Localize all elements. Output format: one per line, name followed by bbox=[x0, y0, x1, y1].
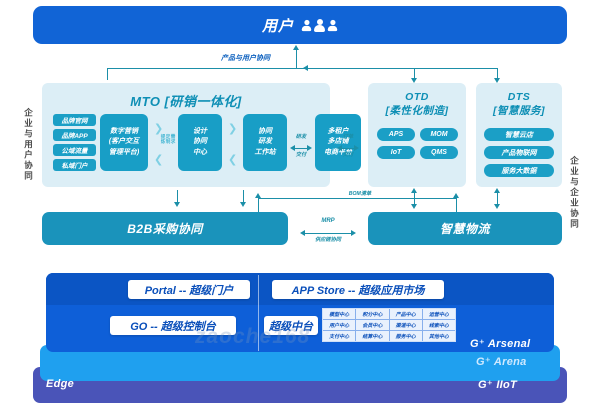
connector-label-delivery: 交付 bbox=[289, 151, 313, 158]
mto-channel-0[interactable]: 品牌官网 bbox=[53, 114, 96, 126]
arrow-up-user bbox=[293, 45, 299, 50]
mto-title: MTO [研销一体化] bbox=[42, 83, 330, 110]
center-cell[interactable]: 支付中心 bbox=[323, 331, 355, 341]
bar-smart-logistics[interactable]: 智慧物流 bbox=[368, 212, 562, 245]
arrow-down-dts-bottom bbox=[494, 204, 500, 209]
dts-title: DTS [智慧服务] bbox=[476, 83, 562, 118]
dts-title-line1: DTS bbox=[476, 90, 562, 104]
center-cell[interactable]: 产品中心 bbox=[390, 309, 422, 319]
portal-pill[interactable]: Portal -- 超级门户 bbox=[128, 280, 250, 299]
box-line: 管理平台) bbox=[109, 148, 139, 159]
flow-line-up-mid bbox=[296, 50, 297, 68]
arrow-up-bom-right bbox=[453, 193, 459, 198]
box-line: 中心 bbox=[193, 148, 207, 159]
otd-title: OTD [柔性化制造] bbox=[368, 83, 466, 118]
flow-label-bom: BOM清单 bbox=[330, 190, 390, 197]
mto-box-rd-workstation[interactable]: 协同 研发 工作站 bbox=[243, 114, 287, 171]
user-banner: 用户 bbox=[33, 6, 567, 44]
otd-module-iot[interactable]: IoT bbox=[377, 146, 415, 159]
box-line: 数字营销 bbox=[110, 127, 138, 138]
otd-title-line1: OTD bbox=[368, 90, 466, 104]
flow-label-supply-chain: 供应链协同 bbox=[298, 236, 358, 243]
connector-label-order: 订单 bbox=[336, 133, 360, 140]
center-grid: 模型中心 积分中心 产品中心 运营中心 用户中心 会员中心 渠道中心 线索中心 … bbox=[322, 308, 456, 342]
center-cell[interactable]: 服务中心 bbox=[390, 331, 422, 341]
connector-label-demand: 需求 bbox=[170, 134, 176, 162]
mto-box-ecommerce[interactable]: 多租户 多店铺 电商平台 bbox=[315, 114, 361, 171]
center-cell[interactable]: 结算中心 bbox=[356, 331, 388, 341]
people-icon bbox=[301, 19, 338, 32]
connector-label-order-delivery: 交付 bbox=[336, 151, 360, 158]
dts-module-cloud-store[interactable]: 智慧云店 bbox=[484, 128, 554, 141]
arrow-down-2 bbox=[240, 202, 246, 207]
arrow-up-dts-bottom bbox=[494, 188, 500, 193]
mto-box-design-center[interactable]: 设计 协同 中心 bbox=[178, 114, 222, 171]
label-edge: Edge bbox=[46, 378, 74, 390]
bar-b2b-procurement[interactable]: B2B采购协同 bbox=[42, 212, 288, 245]
center-cell[interactable]: 其他中心 bbox=[423, 331, 455, 341]
watermark: zaoche168 bbox=[195, 325, 310, 349]
side-label-left: 企业与用户协同 bbox=[24, 92, 33, 197]
connector-label-rd: 研发 bbox=[289, 133, 313, 140]
arrow-down-1 bbox=[174, 202, 180, 207]
flow-label-mrp: MRP bbox=[300, 218, 356, 224]
otd-module-qms[interactable]: QMS bbox=[420, 146, 458, 159]
side-label-right: 企业与企业协同 bbox=[570, 140, 579, 245]
center-cell[interactable]: 线索中心 bbox=[423, 320, 455, 330]
mto-channel-2[interactable]: 公域流量 bbox=[53, 144, 96, 156]
otd-title-line2: [柔性化制造] bbox=[368, 104, 466, 118]
user-banner-title: 用户 bbox=[262, 15, 294, 36]
mto-channel-3[interactable]: 私域门户 bbox=[53, 159, 96, 171]
flow-label-product-user: 产品与用户协同 bbox=[221, 53, 270, 63]
chevron-right-icon: ❯ bbox=[228, 124, 237, 135]
label-arena: G⁺ Arena bbox=[476, 355, 527, 368]
dts-module-product-iot[interactable]: 产品物联网 bbox=[484, 146, 554, 159]
arrow-down-otd-bottom bbox=[411, 204, 417, 209]
box-line: (客户交互 bbox=[109, 137, 139, 148]
bom-line-horizontal bbox=[258, 198, 456, 199]
box-line: 设计 bbox=[193, 127, 207, 138]
chevron-left-icon: ❮ bbox=[228, 155, 237, 166]
otd-module-mom[interactable]: MOM bbox=[420, 128, 458, 141]
center-cell[interactable]: 用户中心 bbox=[323, 320, 355, 330]
label-iiot: G⁺ IIoT bbox=[478, 378, 517, 391]
box-line: 研发 bbox=[258, 137, 272, 148]
flow-line-top bbox=[107, 68, 497, 69]
box-line: 工作站 bbox=[255, 148, 276, 159]
mto-box-digital-marketing[interactable]: 数字营销 (客户交互 管理平台) bbox=[100, 114, 148, 171]
center-cell[interactable]: 会员中心 bbox=[356, 320, 388, 330]
flow-line-left-drop bbox=[107, 68, 108, 80]
center-cell[interactable]: 渠道中心 bbox=[390, 320, 422, 330]
center-cell[interactable]: 模型中心 bbox=[323, 309, 355, 319]
app-store-pill[interactable]: APP Store -- 超级应用市场 bbox=[272, 280, 444, 299]
box-line: 协同 bbox=[193, 137, 207, 148]
mto-channel-1[interactable]: 品牌APP bbox=[53, 129, 96, 141]
otd-module-aps[interactable]: APS bbox=[377, 128, 415, 141]
center-cell[interactable]: 运营中心 bbox=[423, 309, 455, 319]
center-cell[interactable]: 积分中心 bbox=[356, 309, 388, 319]
arrow-left-mid bbox=[303, 65, 308, 71]
box-line: 协同 bbox=[258, 127, 272, 138]
dts-title-line2: [智慧服务] bbox=[476, 104, 562, 118]
dts-module-service-bigdata[interactable]: 服务大数据 bbox=[484, 164, 554, 177]
label-arsenal: G⁺ Arsenal bbox=[470, 337, 530, 350]
arrow-up-otd-bottom bbox=[411, 188, 417, 193]
diagram-root: 用户 产品与用户协同 企业与用户协同 企业与企业协同 MTO [研销一体化] 品… bbox=[0, 0, 600, 408]
